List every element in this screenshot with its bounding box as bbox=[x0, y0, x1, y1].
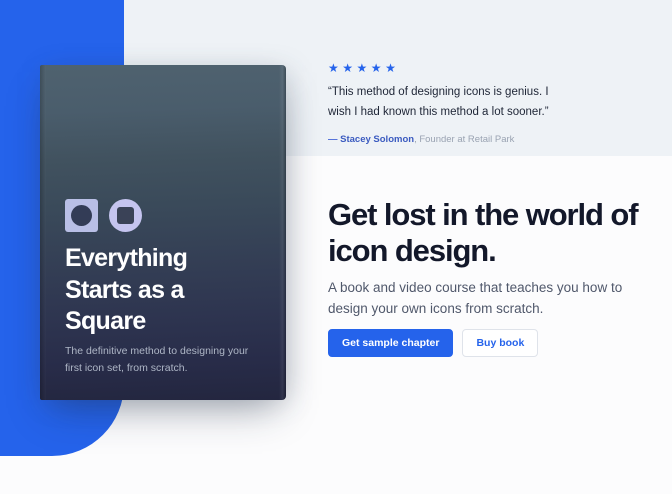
circle-with-square-cutout-icon bbox=[109, 199, 142, 232]
testimonial-author-role: , Founder at Retail Park bbox=[414, 134, 514, 145]
get-sample-chapter-button[interactable]: Get sample chapter bbox=[328, 329, 453, 357]
square-cutout bbox=[117, 207, 134, 224]
testimonial-author: Stacey Solomon bbox=[340, 134, 414, 145]
star-rating: ★ ★ ★ ★ ★ bbox=[328, 62, 578, 74]
star-icon: ★ bbox=[371, 62, 382, 74]
testimonial-block: ★ ★ ★ ★ ★ “This method of designing icon… bbox=[328, 62, 578, 146]
book-title: Everything Starts as a Square bbox=[65, 243, 255, 338]
book-cover: Everything Starts as a Square The defini… bbox=[40, 65, 286, 400]
star-icon: ★ bbox=[385, 62, 396, 74]
star-icon: ★ bbox=[342, 62, 353, 74]
star-icon: ★ bbox=[328, 62, 339, 74]
attribution-dash: — bbox=[328, 134, 338, 145]
square-with-circle-cutout-icon bbox=[65, 199, 98, 232]
page-title: Get lost in the world of icon design. bbox=[328, 197, 646, 270]
testimonial-quote: “This method of designing icons is geniu… bbox=[328, 83, 560, 123]
buy-book-button[interactable]: Buy book bbox=[462, 329, 538, 357]
testimonial-attribution: — Stacey Solomon, Founder at Retail Park bbox=[328, 133, 578, 146]
cta-button-row: Get sample chapter Buy book bbox=[328, 329, 538, 357]
landing-page-hero: Everything Starts as a Square The defini… bbox=[0, 0, 672, 494]
book-cover-inner: Everything Starts as a Square The defini… bbox=[40, 65, 286, 400]
circle-cutout bbox=[71, 205, 92, 226]
page-subtitle: A book and video course that teaches you… bbox=[328, 278, 634, 320]
book-subtitle: The definitive method to designing your … bbox=[65, 343, 261, 378]
star-icon: ★ bbox=[357, 62, 368, 74]
book-cover-icons bbox=[65, 199, 142, 232]
